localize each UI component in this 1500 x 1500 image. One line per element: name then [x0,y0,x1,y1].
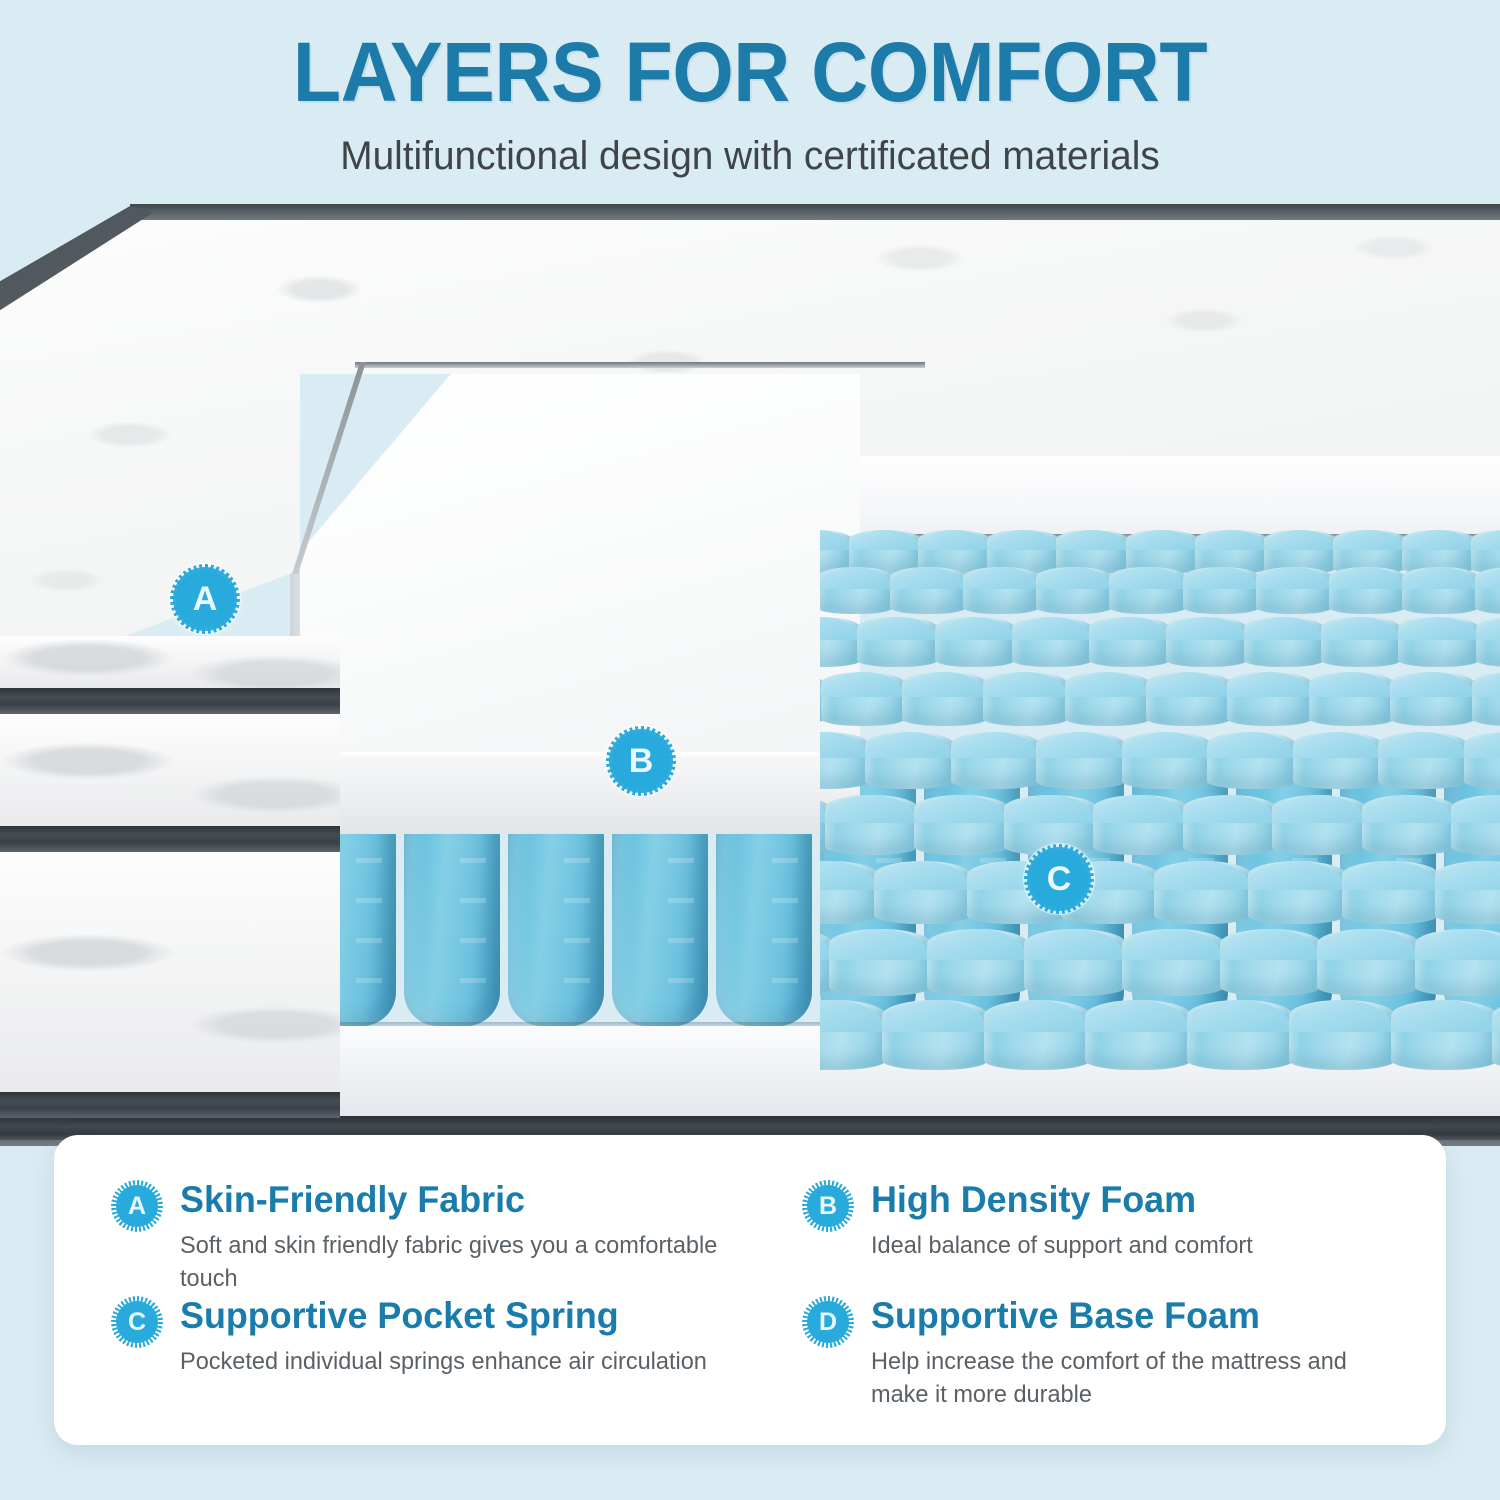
pocket-spring [984,1000,1090,1070]
pocket-spring [820,567,893,614]
pocket-spring [1089,617,1170,668]
pocket-spring [1472,672,1500,726]
pocket-spring [1248,861,1346,925]
side-panel-quilt-band [0,636,340,688]
mattress-side-panel [0,636,340,1146]
legend-desc-d: Help increase the comfort of the mattres… [871,1345,1395,1411]
legend-desc-a: Soft and skin friendly fabric gives you … [180,1229,749,1295]
legend-title-a: Skin-Friendly Fabric [180,1179,744,1221]
pocket-spring [1036,732,1125,789]
pocket-spring [825,795,918,855]
pocket-spring [1317,929,1419,996]
pocket-spring [1391,1000,1497,1070]
legend-badge-a: A [116,1185,158,1227]
pocket-spring [1122,732,1211,789]
pocket-spring [1492,1000,1500,1070]
pocket-spring [1166,617,1247,668]
pocket-spring [1122,929,1224,996]
pocket-spring [963,567,1039,614]
pocket-spring [1378,732,1467,789]
pocket-spring [820,732,869,789]
pocket-spring [1256,567,1332,614]
legend-desc-b: Ideal balance of support and comfort [871,1229,1253,1262]
pocket-spring [1187,1000,1293,1070]
pocket-spring [1093,795,1186,855]
pocket-spring [1289,1000,1395,1070]
pocket-spring [1183,795,1276,855]
pocket-spring [829,929,931,996]
pocket-spring [1362,795,1455,855]
pocket-spring [865,732,954,789]
pocket-spring [1390,672,1475,726]
pocket-spring [1012,617,1093,668]
pocket-spring [951,732,1040,789]
pocket-spring [890,567,966,614]
pocket-spring [1207,732,1296,789]
pocket-spring [1329,567,1405,614]
pocket-spring [874,861,972,925]
legend-badge-c: C [116,1301,158,1343]
pocket-spring [820,617,861,668]
legend-desc-c: Pocketed individual springs enhance air … [180,1345,707,1378]
legend-title-b: High Density Foam [871,1179,1249,1221]
header: LAYERS FOR COMFORT Multifunctional desig… [0,0,1500,180]
pocket-spring [983,672,1068,726]
side-panel-quilt-band [0,714,340,826]
pocket-spring [1451,795,1500,855]
pocket-spring [1272,795,1365,855]
pocket-spring [1146,672,1231,726]
page-subtitle: Multifunctional design with certificated… [23,118,1478,180]
pocket-spring [927,929,1029,996]
callout-badge-b[interactable]: B [612,732,670,790]
callout-badge-a[interactable]: A [176,570,234,628]
pocket-spring [1475,567,1500,614]
legend-card: A Skin-Friendly Fabric Soft and skin fri… [54,1135,1446,1445]
pocket-spring [1183,567,1259,614]
pocket-spring [1476,617,1500,668]
pocket-spring [1309,672,1394,726]
pocket-spring-field [820,526,1500,1126]
page-title: LAYERS FOR COMFORT [45,0,1455,118]
pocket-spring [821,672,906,726]
pocket-spring [1293,732,1382,789]
pocket-spring [1398,617,1479,668]
legend-item-d: D Supportive Base Foam Help increase the… [761,1295,1406,1411]
legend-item-b: B High Density Foam Ideal balance of sup… [761,1179,1406,1295]
side-panel-quilt-band [0,852,340,1092]
fabric-step-edge [355,362,925,368]
pocket-spring [1154,861,1252,925]
pocket-spring [1109,567,1185,614]
pocket-spring [1227,672,1312,726]
pocket-spring [935,617,1016,668]
pocket-spring [882,1000,988,1070]
legend-text-d: Supportive Base Foam Help increase the c… [871,1295,1406,1411]
pocket-spring [1342,861,1440,925]
side-panel-binding-strip [0,688,340,714]
legend-item-a: A Skin-Friendly Fabric Soft and skin fri… [116,1179,761,1295]
pocket-spring [1065,672,1150,726]
legend-badge-b: B [807,1185,849,1227]
mattress-cutaway-illustration: A B C D [0,196,1500,1146]
legend-title-c: Supportive Pocket Spring [180,1295,702,1337]
pocket-spring [1435,861,1500,925]
side-panel-binding-strip [0,826,340,852]
pocket-spring [1321,617,1402,668]
high-density-foam-slab [300,356,860,768]
infographic-page: LAYERS FOR COMFORT Multifunctional desig… [0,0,1500,1500]
legend-badge-d: D [807,1301,849,1343]
callout-badge-c[interactable]: C [1030,850,1088,908]
pocket-spring [1024,929,1126,996]
pocket-spring [820,861,878,925]
legend-text-c: Supportive Pocket Spring Pocketed indivi… [180,1295,718,1378]
pocket-spring [902,672,987,726]
foam-slab-front-face [300,756,860,834]
pocket-spring [857,617,938,668]
pocket-spring [1464,732,1500,789]
pocket-spring [1036,567,1112,614]
legend-text-b: High Density Foam Ideal balance of suppo… [871,1179,1261,1262]
pocket-spring [820,1000,886,1070]
pocket-spring [1220,929,1322,996]
legend-text-a: Skin-Friendly Fabric Soft and skin frien… [180,1179,761,1295]
legend-item-c: C Supportive Pocket Spring Pocketed indi… [116,1295,761,1411]
pocket-spring [1085,1000,1191,1070]
legend-grid: A Skin-Friendly Fabric Soft and skin fri… [54,1135,1446,1445]
fabric-north-binding [130,204,1500,220]
side-panel-binding-strip [0,1092,340,1118]
pocket-spring [1402,567,1478,614]
pocket-spring [1244,617,1325,668]
pocket-spring [914,795,1007,855]
legend-title-d: Supportive Base Foam [871,1295,1390,1337]
pocket-spring [1415,929,1500,996]
